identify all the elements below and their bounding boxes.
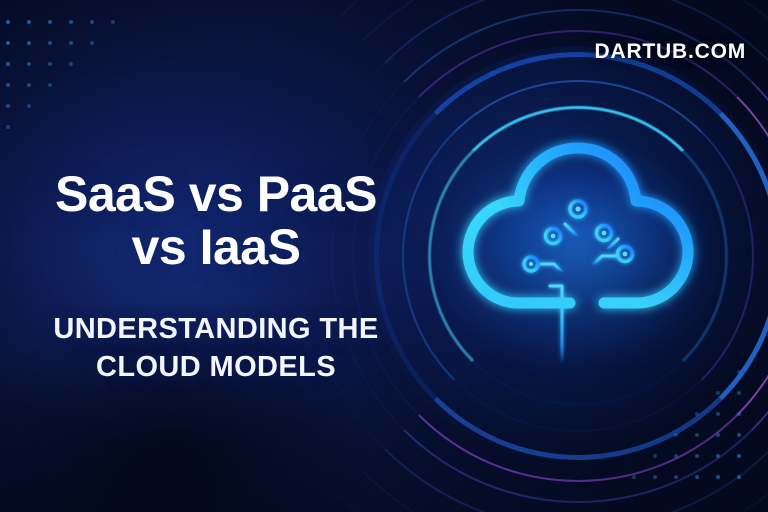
decor-dot xyxy=(674,475,678,479)
decor-dot xyxy=(737,454,741,458)
page-subtitle-line-2: CLOUD MODELS xyxy=(0,348,432,386)
brand-watermark: DARTUB.COM xyxy=(595,40,746,64)
decor-dot xyxy=(737,475,741,479)
decor-dot xyxy=(632,475,636,479)
decor-dot-empty xyxy=(48,104,52,108)
decor-dot-empty xyxy=(632,391,636,395)
decor-dot-empty xyxy=(632,370,636,374)
decor-dot xyxy=(111,20,115,24)
decor-dot xyxy=(695,412,699,416)
decor-dot-empty xyxy=(90,62,94,66)
decor-dot-empty xyxy=(653,412,657,416)
decor-dot xyxy=(48,20,52,24)
decor-dot xyxy=(695,433,699,437)
decor-dot-empty xyxy=(674,391,678,395)
decor-dot xyxy=(716,433,720,437)
dot-grid-bottom-right xyxy=(632,370,758,496)
decor-dot-empty xyxy=(90,83,94,87)
decor-dot-empty xyxy=(674,370,678,374)
decor-dot-empty xyxy=(653,370,657,374)
decor-dot xyxy=(69,41,73,45)
decor-dot-empty xyxy=(69,104,73,108)
decor-dot xyxy=(6,125,10,129)
cloud-glow xyxy=(433,142,723,372)
decor-dot-empty xyxy=(653,391,657,395)
decor-dot-empty xyxy=(48,125,52,129)
decor-dot xyxy=(90,41,94,45)
decor-dot xyxy=(27,41,31,45)
decor-dot xyxy=(716,475,720,479)
decor-dot-empty xyxy=(716,370,720,374)
page-title-line-1: SaaS vs PaaS xyxy=(55,166,377,222)
decor-dot-empty xyxy=(632,412,636,416)
decor-dot xyxy=(48,83,52,87)
decor-dot xyxy=(6,20,10,24)
decor-dot xyxy=(27,83,31,87)
decor-dot-empty xyxy=(111,125,115,129)
page-title-line-2: vs IaaS xyxy=(0,221,432,274)
decor-dot xyxy=(69,20,73,24)
decor-dot-empty xyxy=(674,412,678,416)
decor-dot xyxy=(48,62,52,66)
decor-dot xyxy=(6,104,10,108)
decor-dot xyxy=(674,454,678,458)
decor-dot xyxy=(27,62,31,66)
decor-dot-empty xyxy=(69,83,73,87)
decor-dot xyxy=(716,412,720,416)
decor-dot-empty xyxy=(695,391,699,395)
decor-dot-empty xyxy=(90,104,94,108)
decor-dot xyxy=(737,433,741,437)
decor-dot-empty xyxy=(111,41,115,45)
decor-dot-empty xyxy=(27,125,31,129)
decor-dot-empty xyxy=(632,433,636,437)
decor-dot xyxy=(716,391,720,395)
poster-canvas: DARTUB.COM SaaS vs PaaSvs IaaS UNDERSTAN… xyxy=(0,0,768,512)
decor-dot xyxy=(695,475,699,479)
decor-dot-empty xyxy=(69,125,73,129)
decor-dot xyxy=(737,391,741,395)
decor-dot xyxy=(90,20,94,24)
decor-dot-empty xyxy=(111,104,115,108)
decor-dot xyxy=(716,454,720,458)
decor-dot-empty xyxy=(111,62,115,66)
decor-dot xyxy=(6,41,10,45)
decor-dot xyxy=(737,412,741,416)
decor-dot xyxy=(653,475,657,479)
decor-dot xyxy=(695,454,699,458)
dot-grid-top-left xyxy=(6,20,132,146)
decor-dot-empty xyxy=(90,125,94,129)
decor-dot xyxy=(6,62,10,66)
decor-dot xyxy=(737,370,741,374)
decor-dot-empty xyxy=(111,83,115,87)
decor-dot-empty xyxy=(632,454,636,458)
decor-dot-empty xyxy=(695,370,699,374)
decor-dot xyxy=(6,83,10,87)
page-subtitle: UNDERSTANDING THECLOUD MODELS xyxy=(0,310,432,387)
decor-dot xyxy=(69,62,73,66)
page-subtitle-line-1: UNDERSTANDING THE xyxy=(53,313,378,345)
decor-dot xyxy=(653,454,657,458)
decor-dot-empty xyxy=(653,433,657,437)
decor-dot xyxy=(674,433,678,437)
decor-dot xyxy=(27,20,31,24)
cloud-circuit-icon xyxy=(452,132,704,372)
page-title: SaaS vs PaaSvs IaaS xyxy=(0,168,432,274)
decor-dot xyxy=(27,104,31,108)
decor-dot xyxy=(48,41,52,45)
